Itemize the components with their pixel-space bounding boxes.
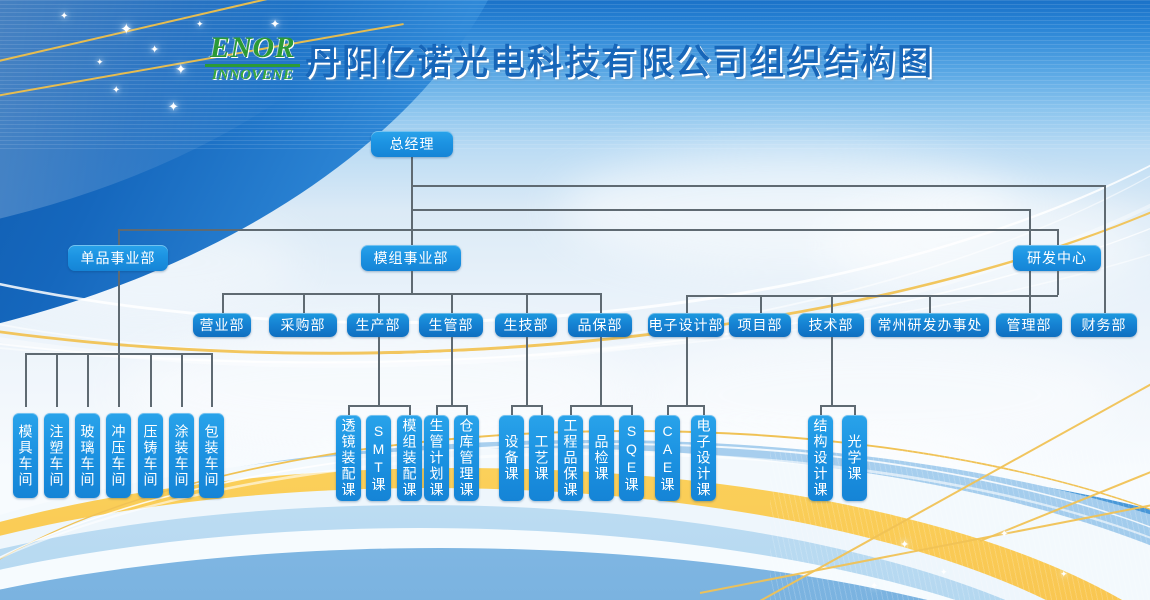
node-section[interactable]: 工程品保课	[558, 415, 583, 501]
connector-line	[348, 405, 411, 407]
connector-line	[760, 295, 762, 313]
connector-line	[686, 295, 1058, 297]
node-section[interactable]: 生管计划课	[424, 415, 449, 501]
node-pe[interactable]: 生技部	[495, 313, 557, 337]
node-label: 工程品保课	[561, 418, 581, 498]
connector-line	[118, 229, 120, 245]
node-section[interactable]: SMT课	[366, 415, 391, 501]
org-chart-poster: ✦ ✦ ✦ ✦ ✦ ✦ ✦ ✦ ✦ ✦ ✦ ✦ ✦ ✦ ENOR INNOVEN…	[0, 0, 1150, 600]
connector-line	[118, 353, 120, 407]
node-label: 技术部	[809, 315, 854, 335]
node-finance[interactable]: 财务部	[1071, 313, 1137, 337]
node-workshop[interactable]: 玻璃车间	[75, 413, 100, 498]
connector-line	[1057, 229, 1059, 245]
node-label: 生技部	[504, 315, 549, 335]
connector-line	[118, 271, 120, 353]
node-label: 模组事业部	[374, 248, 449, 268]
connector-line	[1104, 185, 1106, 313]
node-module[interactable]: 模组事业部	[361, 245, 461, 271]
node-edesign[interactable]: 电子设计部	[648, 313, 724, 337]
connector-line	[411, 229, 413, 245]
connector-line	[466, 405, 468, 415]
node-label: 项目部	[738, 315, 783, 335]
connector-line	[348, 405, 350, 415]
connector-line	[686, 295, 688, 313]
node-rnd[interactable]: 研发中心	[1013, 245, 1101, 271]
node-tech[interactable]: 技术部	[798, 313, 864, 337]
node-gm[interactable]: 总经理	[371, 131, 453, 157]
connector-line	[511, 405, 513, 415]
connector-line	[451, 337, 453, 407]
connector-line	[181, 353, 183, 407]
node-label: 品检课	[592, 434, 612, 482]
node-admin[interactable]: 管理部	[996, 313, 1062, 337]
node-label: 仓库管理课	[457, 418, 477, 498]
connector-line	[511, 405, 543, 407]
connector-line	[1057, 271, 1059, 295]
node-label: 结构设计课	[811, 418, 831, 498]
org-chart: 总经理 单品事业部 模组事业部 研发中心 营业部 采购部	[0, 0, 1150, 600]
node-label: 压铸车间	[141, 424, 161, 488]
node-label: 光学课	[845, 434, 865, 482]
node-label: 生管部	[429, 315, 474, 335]
connector-line	[600, 337, 602, 407]
node-workshop[interactable]: 涂装车间	[169, 413, 194, 498]
node-label: SMT课	[369, 423, 389, 493]
connector-line	[118, 229, 1059, 231]
node-purchase[interactable]: 采购部	[269, 313, 337, 337]
connector-line	[854, 405, 856, 415]
node-section[interactable]: SQE课	[619, 415, 644, 501]
node-label: 生产部	[356, 315, 401, 335]
node-section[interactable]: 设备课	[499, 415, 524, 501]
node-section[interactable]: CAE课	[655, 415, 680, 501]
node-section[interactable]: 模组装配课	[397, 415, 422, 501]
node-single[interactable]: 单品事业部	[68, 245, 168, 271]
node-workshop[interactable]: 注塑车间	[44, 413, 69, 498]
node-label: 生管计划课	[427, 418, 447, 498]
connector-line	[631, 405, 633, 415]
connector-line	[411, 271, 413, 293]
connector-line	[211, 353, 213, 407]
connector-line	[87, 353, 89, 407]
node-label: 模具车间	[16, 424, 36, 488]
node-label: 品保部	[578, 315, 623, 335]
connector-line	[378, 337, 380, 407]
node-label: 电子设计课	[694, 418, 714, 498]
node-section[interactable]: 结构设计课	[808, 415, 833, 501]
node-section[interactable]: 工艺课	[529, 415, 554, 501]
node-label: 常州研发办事处	[878, 315, 983, 335]
connector-line	[411, 209, 1031, 211]
connector-line	[570, 405, 572, 415]
connector-line	[831, 337, 833, 407]
node-label: 采购部	[281, 315, 326, 335]
connector-line	[378, 293, 380, 313]
node-section[interactable]: 透镜装配课	[336, 415, 361, 501]
connector-line	[303, 293, 305, 313]
node-sales[interactable]: 营业部	[193, 313, 251, 337]
connector-line	[929, 295, 931, 313]
node-production[interactable]: 生产部	[347, 313, 409, 337]
node-label: 注塑车间	[47, 424, 67, 488]
node-workshop[interactable]: 模具车间	[13, 413, 38, 498]
node-label: 冲压车间	[109, 424, 129, 488]
node-label: 涂装车间	[172, 424, 192, 488]
node-section[interactable]: 光学课	[842, 415, 867, 501]
connector-line	[451, 293, 453, 313]
connector-line	[526, 293, 528, 313]
node-project[interactable]: 项目部	[729, 313, 791, 337]
node-workshop[interactable]: 冲压车间	[106, 413, 131, 498]
node-label: 总经理	[390, 134, 435, 154]
node-label: 包装车间	[202, 424, 222, 488]
connector-line	[703, 405, 705, 415]
connector-line	[411, 185, 1106, 187]
connector-line	[150, 353, 152, 407]
connector-line	[820, 405, 856, 407]
connector-line	[411, 157, 413, 229]
connector-line	[56, 353, 58, 407]
connector-line	[25, 353, 27, 407]
node-label: 研发中心	[1027, 248, 1087, 268]
node-qa[interactable]: 品保部	[568, 313, 632, 337]
node-label: 管理部	[1007, 315, 1052, 335]
node-label: CAE课	[658, 423, 678, 493]
node-section[interactable]: 仓库管理课	[454, 415, 479, 501]
node-workshop[interactable]: 包装车间	[199, 413, 224, 498]
node-label: 玻璃车间	[78, 424, 98, 488]
node-label: 电子设计部	[649, 315, 724, 335]
node-label: 财务部	[1082, 315, 1127, 335]
connector-line	[409, 405, 411, 415]
connector-line	[667, 405, 669, 415]
node-label: 工艺课	[532, 434, 552, 482]
node-changzhou[interactable]: 常州研发办事处	[871, 313, 989, 337]
node-label: 透镜装配课	[339, 418, 359, 498]
connector-line	[436, 405, 468, 407]
node-section[interactable]: 电子设计课	[691, 415, 716, 501]
node-pmc[interactable]: 生管部	[419, 313, 483, 337]
node-label: 单品事业部	[81, 248, 156, 268]
node-label: 营业部	[200, 315, 245, 335]
connector-line	[667, 405, 705, 407]
connector-line	[820, 405, 822, 415]
connector-line	[570, 405, 633, 407]
connector-line	[541, 405, 543, 415]
node-label: SQE课	[622, 423, 642, 493]
connector-line	[686, 337, 688, 407]
connector-line	[222, 293, 601, 295]
node-section[interactable]: 品检课	[589, 415, 614, 501]
node-label: 模组装配课	[400, 418, 420, 498]
node-label: 设备课	[502, 434, 522, 482]
node-workshop[interactable]: 压铸车间	[138, 413, 163, 498]
connector-line	[436, 405, 438, 415]
connector-line	[600, 293, 602, 313]
connector-line	[222, 293, 224, 313]
connector-line	[526, 337, 528, 407]
connector-line	[831, 295, 833, 313]
